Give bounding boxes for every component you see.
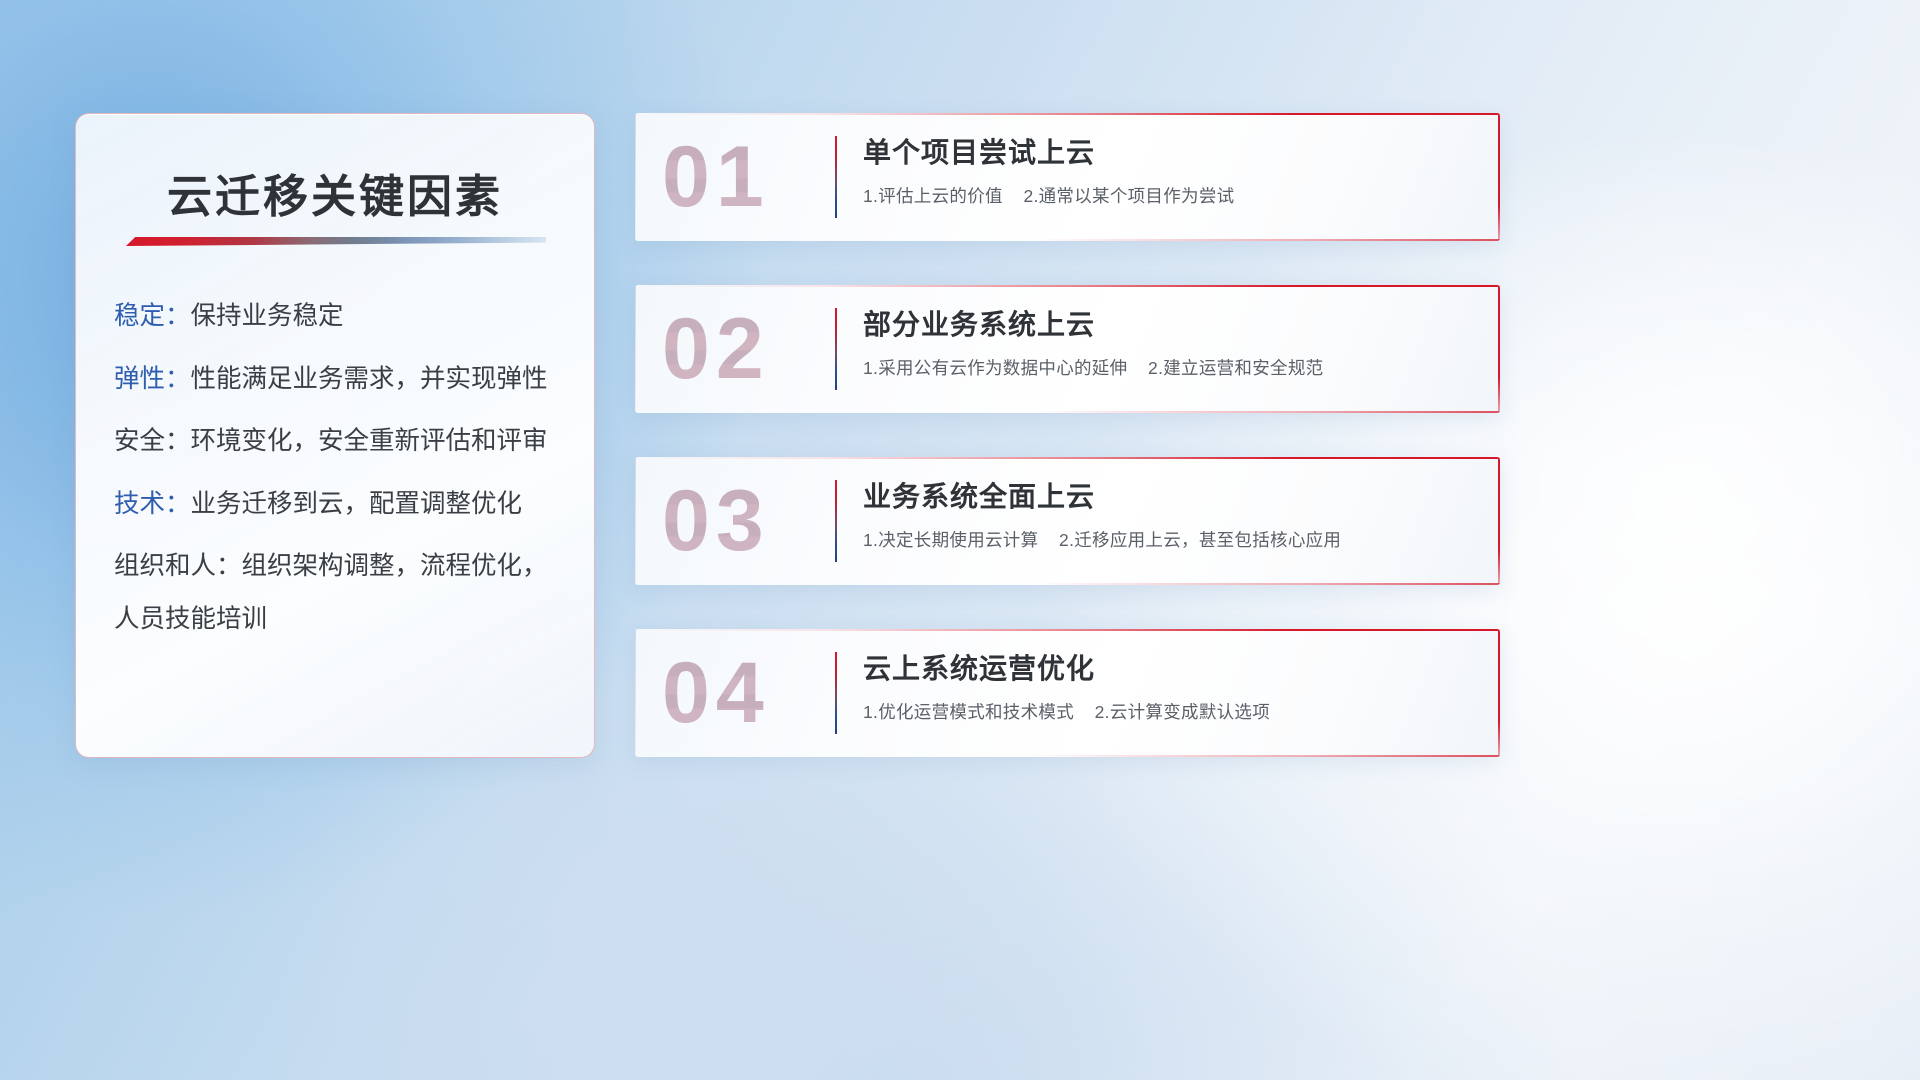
card-divider [835,308,837,390]
card-title: 单个项目尝试上云 [863,137,1470,169]
list-item-label: 组织和人： [114,552,242,580]
stage-number: 02 [662,306,770,392]
panel-title: 云迁移关键因素 [76,160,594,225]
card-title: 云上系统运营优化 [863,653,1470,685]
list-item-text: 保持业务稳定 [191,302,344,330]
card-subtitle: 1.优化运营模式和技术模式 2.云计算变成默认选项 [863,702,1470,723]
list-item-label: 稳定： [114,302,191,330]
list-item-continuation: 人员技能培训 [114,607,568,633]
list-item: 稳定：保持业务稳定 [114,304,568,330]
stage-card-list: 01 01 01 单个项目尝试上云 1.评估上云的价值 2.通常以某个项目作为尝… [635,113,1500,757]
card-accent-bottom [635,583,1500,585]
card-body: 部分业务系统上云 1.采用公有云作为数据中心的延伸 2.建立运营和安全规范 [863,309,1470,379]
list-item-text: 组织架构调整，流程优化， [242,552,548,580]
stage-card[interactable]: 02 02 02 部分业务系统上云 1.采用公有云作为数据中心的延伸 2.建立运… [635,285,1500,413]
stage-number-ghost: 02 [662,306,770,392]
card-divider [835,136,837,218]
card-accent-left [635,457,636,585]
card-accent-top [635,457,1500,459]
stage-card[interactable]: 03 03 03 业务系统全面上云 1.决定长期使用云计算 2.迁移应用上云，甚… [635,457,1500,585]
list-item-label: 弹性： [114,365,191,393]
stage-number-ghost: 03 [662,478,770,564]
stage-number-red: 02 [662,306,770,392]
card-divider [835,480,837,562]
card-body: 单个项目尝试上云 1.评估上云的价值 2.通常以某个项目作为尝试 [863,137,1470,207]
card-accent-left [635,629,636,757]
card-accent-right [1498,113,1500,241]
key-factors-panel: 云迁移关键因素 稳定：保持业务稳定 弹性：性能满足业务需求，并实现弹性 安全：环… [75,113,595,758]
list-item-text: 性能满足业务需求，并实现弹性 [191,365,548,393]
stage-number: 03 [662,478,770,564]
stage-card[interactable]: 01 01 01 单个项目尝试上云 1.评估上云的价值 2.通常以某个项目作为尝… [635,113,1500,241]
slide-canvas: 云迁移关键因素 稳定：保持业务稳定 弹性：性能满足业务需求，并实现弹性 安全：环… [0,0,1920,1080]
card-accent-bottom [635,239,1500,241]
stage-number: 04 [662,650,770,736]
card-accent-left [635,113,636,241]
title-underline-gradient [126,237,546,246]
list-item-label: 安全： [114,427,191,455]
card-subtitle: 1.决定长期使用云计算 2.迁移应用上云，甚至包括核心应用 [863,530,1470,551]
card-accent-right [1498,629,1500,757]
card-accent-left [635,285,636,413]
list-item-label: 技术： [114,490,191,518]
card-divider [835,652,837,734]
list-item-text: 业务迁移到云，配置调整优化 [191,490,523,518]
list-item: 组织和人：组织架构调整，流程优化， 人员技能培训 [114,554,568,632]
card-subtitle: 1.评估上云的价值 2.通常以某个项目作为尝试 [863,186,1470,207]
stage-number-red: 01 [662,134,770,220]
stage-number: 01 [662,134,770,220]
card-title: 业务系统全面上云 [863,481,1470,513]
card-body: 业务系统全面上云 1.决定长期使用云计算 2.迁移应用上云，甚至包括核心应用 [863,481,1470,551]
card-accent-right [1498,285,1500,413]
key-factors-list: 稳定：保持业务稳定 弹性：性能满足业务需求，并实现弹性 安全：环境变化，安全重新… [114,304,568,632]
list-item: 安全：环境变化，安全重新评估和评审 [114,429,568,455]
list-item: 技术：业务迁移到云，配置调整优化 [114,492,568,518]
card-accent-bottom [635,755,1500,757]
stage-number-ghost: 04 [662,650,770,736]
stage-number-red: 03 [662,478,770,564]
card-accent-right [1498,457,1500,585]
stage-number-ghost: 01 [662,134,770,220]
stage-number-red: 04 [662,650,770,736]
stage-card[interactable]: 04 04 04 云上系统运营优化 1.优化运营模式和技术模式 2.云计算变成默… [635,629,1500,757]
card-accent-top [635,629,1500,631]
card-accent-top [635,285,1500,287]
background-glow-bottom [260,760,1160,1080]
card-body: 云上系统运营优化 1.优化运营模式和技术模式 2.云计算变成默认选项 [863,653,1470,723]
list-item-text: 环境变化，安全重新评估和评审 [191,427,548,455]
list-item: 弹性：性能满足业务需求，并实现弹性 [114,367,568,393]
card-accent-bottom [635,411,1500,413]
card-accent-top [635,113,1500,115]
card-subtitle: 1.采用公有云作为数据中心的延伸 2.建立运营和安全规范 [863,358,1470,379]
card-title: 部分业务系统上云 [863,309,1470,341]
